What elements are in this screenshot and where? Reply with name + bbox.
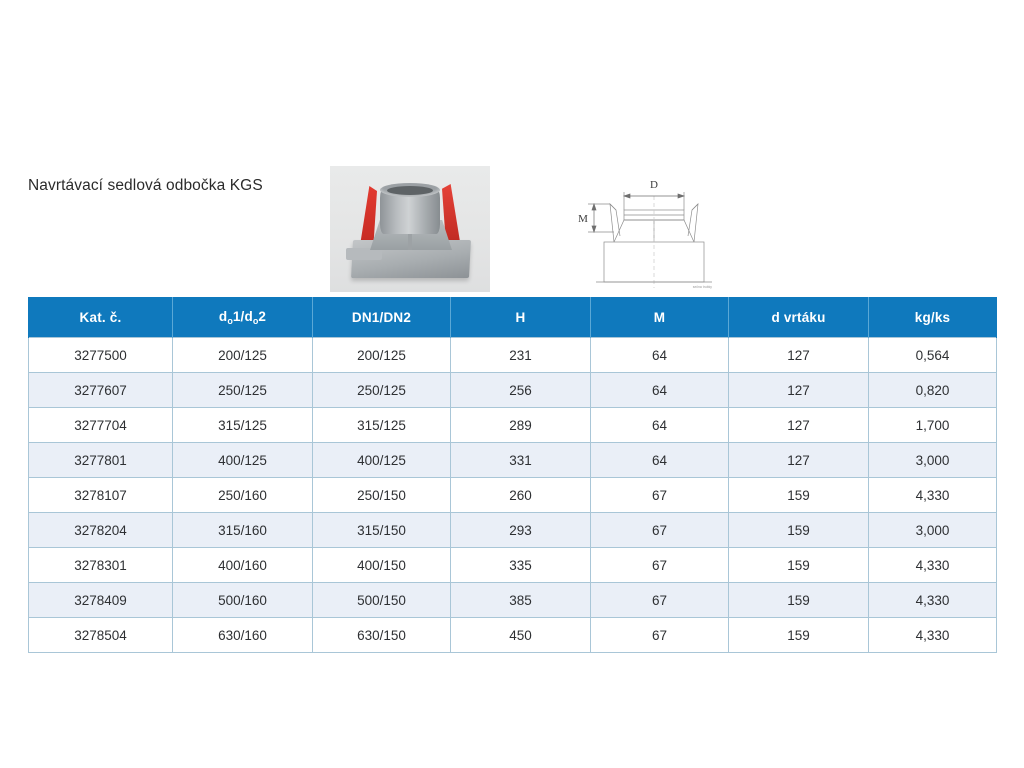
cell-kat: 3277801: [29, 443, 173, 478]
table-row: 3278409500/160500/150385671594,330: [29, 583, 997, 618]
cell-m: 67: [591, 478, 729, 513]
cell-kg: 4,330: [869, 548, 997, 583]
cell-h: 289: [451, 408, 591, 443]
table-row: 3278301400/160400/150335671594,330: [29, 548, 997, 583]
cell-d1d2: 400/125: [173, 443, 313, 478]
cell-h: 293: [451, 513, 591, 548]
dimension-label-d: D: [650, 179, 658, 191]
column-header-kat-c: Kat. č.: [29, 297, 173, 338]
specification-table: Kat. č. do1/do2 DN1/DN2 H M d vrtáku kg/…: [28, 297, 997, 653]
product-header-area: Navrtávací sedlová odbočka KGS: [0, 0, 1024, 292]
dimension-label-m: M: [578, 213, 588, 225]
cell-m: 64: [591, 373, 729, 408]
cell-m: 64: [591, 338, 729, 373]
cell-kat: 3277704: [29, 408, 173, 443]
cell-m: 67: [591, 583, 729, 618]
cell-d1d2: 500/160: [173, 583, 313, 618]
table-row: 3278504630/160630/150450671594,330: [29, 618, 997, 653]
table-header: Kat. č. do1/do2 DN1/DN2 H M d vrtáku kg/…: [29, 297, 997, 338]
cell-h: 260: [451, 478, 591, 513]
technical-drawing: D M sečna trubky: [566, 166, 742, 292]
cell-d1d2: 315/160: [173, 513, 313, 548]
cell-h: 256: [451, 373, 591, 408]
column-header-d1-d2-mid: 1/d: [233, 309, 253, 324]
table-row: 3278107250/160250/150260671594,330: [29, 478, 997, 513]
cell-dn: 630/150: [313, 618, 451, 653]
cell-dv: 127: [729, 373, 869, 408]
cell-dn: 400/125: [313, 443, 451, 478]
cell-kg: 4,330: [869, 618, 997, 653]
cell-dn: 315/125: [313, 408, 451, 443]
drawing-note: sečna trubky: [693, 285, 713, 289]
column-header-h: H: [451, 297, 591, 338]
cell-dv: 127: [729, 443, 869, 478]
cell-d1d2: 400/160: [173, 548, 313, 583]
cell-m: 67: [591, 513, 729, 548]
cell-d1d2: 315/125: [173, 408, 313, 443]
cell-m: 64: [591, 408, 729, 443]
cell-dv: 159: [729, 513, 869, 548]
cell-kg: 4,330: [869, 583, 997, 618]
cell-kg: 0,564: [869, 338, 997, 373]
cell-m: 67: [591, 548, 729, 583]
cell-d1d2: 200/125: [173, 338, 313, 373]
cell-kat: 3278107: [29, 478, 173, 513]
column-header-d1-d2: do1/do2: [173, 297, 313, 338]
cell-kat: 3277607: [29, 373, 173, 408]
table-header-row: Kat. č. do1/do2 DN1/DN2 H M d vrtáku kg/…: [29, 297, 997, 338]
column-header-m: M: [591, 297, 729, 338]
cell-dv: 127: [729, 408, 869, 443]
cell-dn: 400/150: [313, 548, 451, 583]
cell-dn: 500/150: [313, 583, 451, 618]
cell-dn: 200/125: [313, 338, 451, 373]
cell-dn: 315/150: [313, 513, 451, 548]
cell-d1d2: 250/160: [173, 478, 313, 513]
cell-h: 385: [451, 583, 591, 618]
cell-kg: 4,330: [869, 478, 997, 513]
cell-dv: 127: [729, 338, 869, 373]
cell-kg: 1,700: [869, 408, 997, 443]
cell-kat: 3278504: [29, 618, 173, 653]
cell-dn: 250/125: [313, 373, 451, 408]
cell-kat: 3278301: [29, 548, 173, 583]
cell-dv: 159: [729, 548, 869, 583]
cell-kat: 3278204: [29, 513, 173, 548]
cell-m: 67: [591, 618, 729, 653]
column-header-kg-ks: kg/ks: [869, 297, 997, 338]
cell-m: 64: [591, 443, 729, 478]
cell-dv: 159: [729, 618, 869, 653]
cell-h: 231: [451, 338, 591, 373]
column-header-d1-d2-post: 2: [258, 309, 266, 324]
cell-d1d2: 630/160: [173, 618, 313, 653]
cell-kg: 0,820: [869, 373, 997, 408]
cell-h: 450: [451, 618, 591, 653]
technical-drawing-svg: D M sečna trubky: [566, 166, 742, 292]
cell-dn: 250/150: [313, 478, 451, 513]
cell-kg: 3,000: [869, 513, 997, 548]
column-header-d-vrtaku: d vrtáku: [729, 297, 869, 338]
product-photo: [330, 166, 490, 292]
table-row: 3277500200/125200/125231641270,564: [29, 338, 997, 373]
cell-kg: 3,000: [869, 443, 997, 478]
cell-h: 331: [451, 443, 591, 478]
cell-dv: 159: [729, 583, 869, 618]
table-row: 3277607250/125250/125256641270,820: [29, 373, 997, 408]
cell-kat: 3277500: [29, 338, 173, 373]
table-row: 3277704315/125315/125289641271,700: [29, 408, 997, 443]
table-row: 3277801400/125400/125331641273,000: [29, 443, 997, 478]
socket-bore: [387, 186, 433, 195]
column-header-dn1-dn2: DN1/DN2: [313, 297, 451, 338]
table-body: 3277500200/125200/125231641270,564327760…: [29, 338, 997, 653]
cell-kat: 3278409: [29, 583, 173, 618]
page-title: Navrtávací sedlová odbočka KGS: [28, 177, 263, 195]
table-row: 3278204315/160315/150293671593,000: [29, 513, 997, 548]
cell-h: 335: [451, 548, 591, 583]
cell-d1d2: 250/125: [173, 373, 313, 408]
cell-dv: 159: [729, 478, 869, 513]
